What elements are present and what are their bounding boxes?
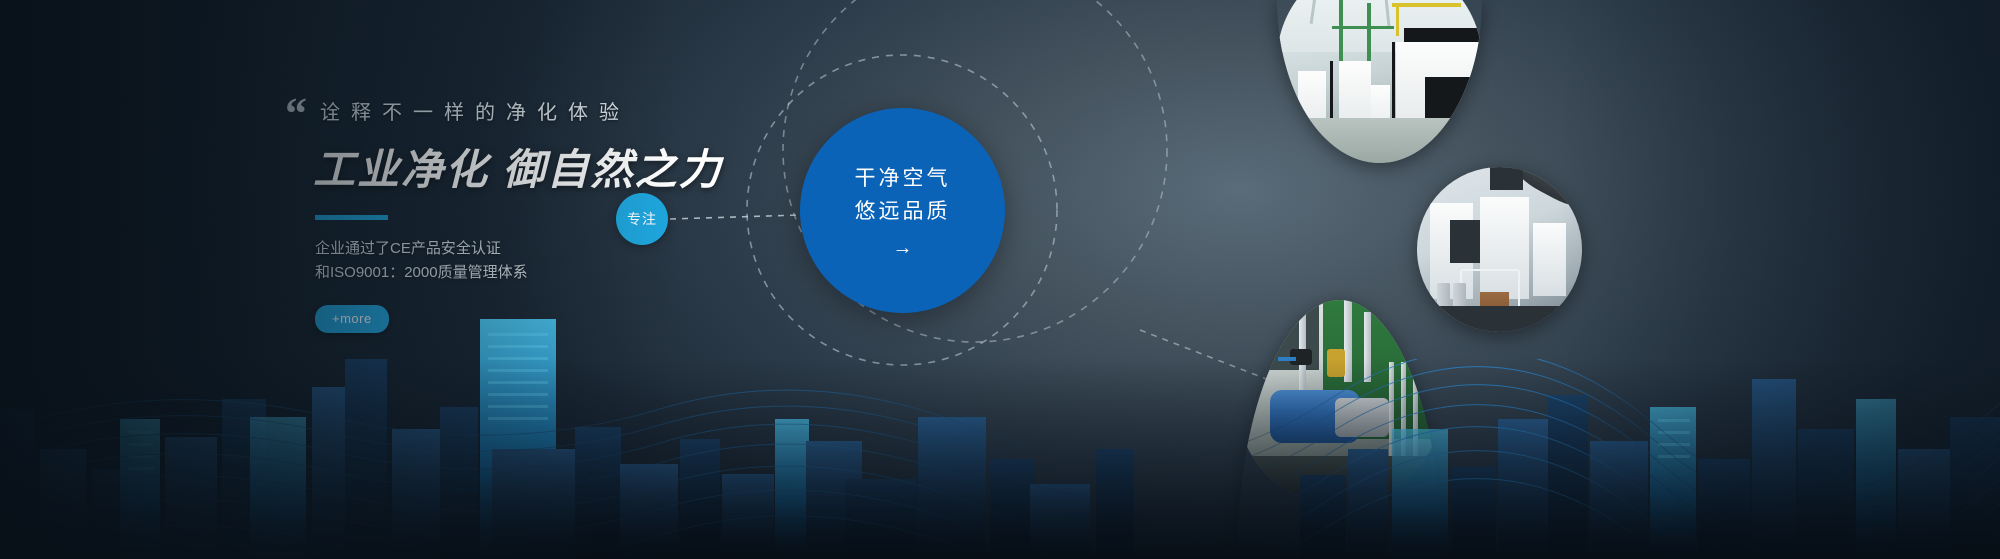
- hero-subtitle: 诠释不一样的净化体验: [320, 96, 745, 125]
- accent-divider-bar: [315, 215, 388, 220]
- quote-mark-icon: “: [285, 92, 307, 136]
- focus-circle[interactable]: 专注: [616, 193, 668, 245]
- body-line-1: 企业通过了CE产品安全认证: [315, 237, 745, 261]
- hero-body-text: 企业通过了CE产品安全认证 和ISO9001：2000质量管理体系: [315, 237, 745, 286]
- hero-text-block: “ 诠释不一样的净化体验 工业净化 御自然之力 企业通过了CE产品安全认证 和I…: [285, 96, 745, 333]
- arrow-right-icon: →: [893, 238, 913, 258]
- body-line-2: 和ISO9001：2000质量管理体系: [315, 261, 745, 285]
- wireframe-terrain-mesh: [0, 359, 2000, 559]
- main-circle-line-1: 干净空气: [855, 163, 951, 196]
- main-circle-line-2: 悠远品质: [855, 196, 951, 229]
- industrial-plant-image: [1277, 0, 1482, 163]
- hero-headline: 工业净化 御自然之力: [313, 136, 745, 197]
- photo-circle-industrial-plant[interactable]: [1277, 0, 1482, 163]
- hero-banner: “ 诠释不一样的净化体验 工业净化 御自然之力 企业通过了CE产品安全认证 和I…: [0, 0, 2000, 559]
- main-feature-circle[interactable]: 干净空气 悠远品质 →: [800, 108, 1005, 313]
- focus-circle-label: 专注: [627, 209, 657, 229]
- photo-inner-top: [1277, 0, 1482, 163]
